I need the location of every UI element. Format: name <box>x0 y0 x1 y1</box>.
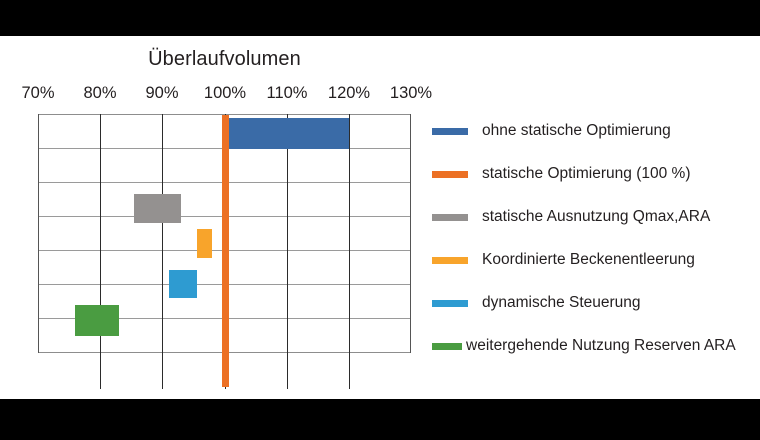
legend-swatch-icon-orange <box>432 171 468 178</box>
vgridline-120 <box>349 114 350 389</box>
vgridline-70 <box>38 114 39 353</box>
x-tick-label-100: 100% <box>193 84 257 103</box>
legend-label-dynamische-steuerung: dynamische Steuerung <box>482 295 641 311</box>
legend-item-statische-optimierung: statische Optimierung (100 %) <box>432 161 690 187</box>
legend-item-koordinierte-beckenentleerung: Koordinierte Beckenentleerung <box>432 247 695 273</box>
legend-item-ohne-statische-optimierung: ohne statische Optimierung <box>432 118 671 144</box>
bar-statische-ausnutzung-qmax-ara <box>134 194 181 223</box>
legend-swatch-icon-green <box>432 343 462 350</box>
bar-ohne-statische-optimierung <box>225 118 349 149</box>
chart-legend: ohne statische Optimierung statische Opt… <box>432 114 752 364</box>
bar-koordinierte-beckenentleerung <box>197 229 213 258</box>
vgridline-110 <box>287 114 288 389</box>
reference-line-statische-optimierung-100 <box>222 115 229 387</box>
legend-item-statische-ausnutzung: statische Ausnutzung Qmax,ARA <box>432 204 710 230</box>
x-tick-label-90: 90% <box>130 84 194 103</box>
legend-swatch-icon-blue <box>432 128 468 135</box>
bar-weitergehende-nutzung-reserven-ara <box>75 305 119 336</box>
chart-screenshot: Überlaufvolumen 70% 80% 90% 100% 110% 12… <box>0 0 760 440</box>
letterbox-top <box>0 0 760 36</box>
legend-label-weitergehende-nutzung: weitergehende Nutzung Reserven ARA <box>466 338 736 354</box>
chart-title: Überlaufvolumen <box>38 48 411 71</box>
plot-area <box>38 114 411 353</box>
legend-label-ohne-statische-optimierung: ohne statische Optimierung <box>482 123 671 139</box>
legend-label-statische-ausnutzung: statische Ausnutzung Qmax,ARA <box>482 209 710 225</box>
x-tick-label-70: 70% <box>6 84 70 103</box>
legend-swatch-icon-lightblue <box>432 300 468 307</box>
legend-label-koordinierte-beckenentleerung: Koordinierte Beckenentleerung <box>482 252 695 268</box>
bar-dynamische-steuerung <box>169 270 197 298</box>
x-tick-label-130: 130% <box>379 84 443 103</box>
vgridline-90 <box>162 114 163 389</box>
vgridline-80 <box>100 114 101 389</box>
legend-swatch-icon-yellow <box>432 257 468 264</box>
vgridline-130 <box>410 114 411 353</box>
x-axis-tick-labels: 70% 80% 90% 100% 110% 120% 130% <box>0 84 760 106</box>
legend-item-weitergehende-nutzung: weitergehende Nutzung Reserven ARA <box>432 333 736 359</box>
legend-swatch-icon-gray <box>432 214 468 221</box>
legend-label-statische-optimierung: statische Optimierung (100 %) <box>482 166 690 182</box>
x-tick-label-110: 110% <box>255 84 319 103</box>
chart-canvas: Überlaufvolumen 70% 80% 90% 100% 110% 12… <box>0 36 760 399</box>
x-tick-label-80: 80% <box>68 84 132 103</box>
letterbox-bottom <box>0 399 760 440</box>
x-tick-label-120: 120% <box>317 84 381 103</box>
legend-item-dynamische-steuerung: dynamische Steuerung <box>432 290 641 316</box>
